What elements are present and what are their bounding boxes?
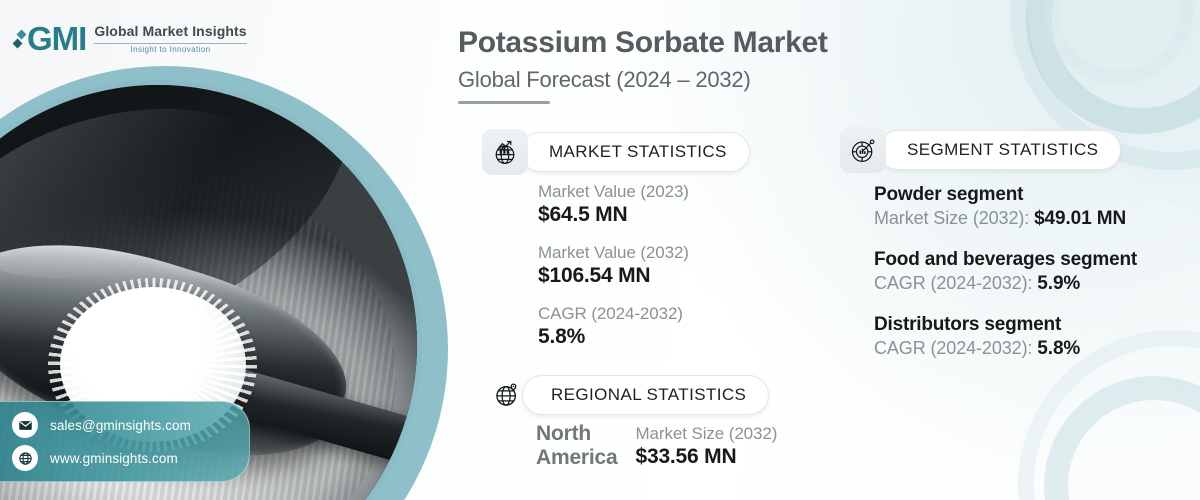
- contact-website-text: www.gminsights.com: [50, 451, 178, 466]
- title-underline: [458, 101, 550, 104]
- segment-heading: Powder segment: [874, 184, 1137, 206]
- logo-tagline: Insight to Innovation: [94, 45, 246, 54]
- segment-metric-label: CAGR (2024-2032):: [874, 338, 1032, 358]
- segment-item: Food and beverages segment CAGR (2024-20…: [874, 249, 1137, 295]
- region-meta: Market Size (2032) $33.56 MN: [635, 422, 777, 469]
- segment-metric-value: 5.9%: [1037, 273, 1080, 294]
- logo-divider: [94, 43, 246, 44]
- stat-label: Market Value (2032): [538, 243, 689, 263]
- regional-statistics-label: REGIONAL STATISTICS: [522, 375, 769, 415]
- globe-icon: [12, 445, 38, 471]
- region-name-line1: North: [536, 422, 617, 446]
- market-statistics-badge: MARKET STATISTICS: [482, 129, 750, 175]
- segment-metric-value: 5.8%: [1037, 338, 1080, 359]
- page-subtitle: Global Forecast (2024 – 2032): [458, 67, 828, 93]
- regional-statistics-row: North America Market Size (2032) $33.56 …: [536, 422, 777, 469]
- stat-item: Market Value (2023) $64.5 MN: [538, 182, 689, 227]
- segment-item: Distributors segment CAGR (2024-2032): 5…: [874, 314, 1137, 360]
- envelope-icon: [12, 412, 38, 438]
- stat-value: $106.54 MN: [538, 264, 689, 288]
- brand-logo[interactable]: GMI Global Market Insights Insight to In…: [14, 22, 247, 55]
- segment-statistics-list: Powder segment Market Size (2032): $49.0…: [874, 184, 1137, 360]
- market-statistics-label: MARKET STATISTICS: [520, 132, 750, 172]
- logo-wordmark: Global Market Insights Insight to Innova…: [94, 23, 246, 54]
- page-title: Potassium Sorbate Market: [458, 26, 828, 61]
- segment-metric-value: $49.01 MN: [1034, 208, 1126, 229]
- logo-mark: GMI: [14, 22, 86, 55]
- segment-metric-label: Market Size (2032):: [874, 208, 1029, 228]
- segment-heading: Food and beverages segment: [874, 249, 1137, 271]
- stat-value: 5.8%: [538, 325, 689, 349]
- contact-email-row[interactable]: sales@gminsights.com: [0, 412, 235, 438]
- regional-statistics-badge: REGIONAL STATISTICS: [484, 372, 769, 418]
- stat-label: Market Value (2023): [538, 182, 689, 202]
- segment-heading: Distributors segment: [874, 314, 1137, 336]
- logo-initials: GMI: [27, 22, 86, 55]
- region-metric-value: $33.56 MN: [635, 445, 777, 469]
- region-name: North America: [536, 422, 617, 469]
- globe-pin-icon: [484, 372, 530, 418]
- stat-item: Market Value (2032) $106.54 MN: [538, 243, 689, 288]
- globe-bar-chart-icon: [482, 129, 528, 175]
- stat-item: CAGR (2024-2032) 5.8%: [538, 304, 689, 349]
- contact-badge: sales@gminsights.com www.gminsights.com: [0, 401, 250, 482]
- infographic-canvas: sales@gminsights.com www.gminsights.com …: [0, 0, 1200, 500]
- region-metric-label: Market Size (2032): [635, 424, 777, 444]
- segment-statistics-label: SEGMENT STATISTICS: [878, 130, 1121, 170]
- segment-metric-label: CAGR (2024-2032):: [874, 273, 1032, 293]
- logo-diamond-icon: [14, 31, 25, 47]
- segment-item: Powder segment Market Size (2032): $49.0…: [874, 184, 1137, 230]
- title-block: Potassium Sorbate Market Global Forecast…: [458, 26, 828, 104]
- contact-email-text: sales@gminsights.com: [50, 418, 191, 433]
- segment-statistics-badge: SEGMENT STATISTICS: [840, 127, 1121, 173]
- segment-metric-line: CAGR (2024-2032): 5.9%: [874, 273, 1137, 295]
- segment-metric-line: CAGR (2024-2032): 5.8%: [874, 338, 1137, 360]
- market-statistics-list: Market Value (2023) $64.5 MN Market Valu…: [538, 182, 689, 349]
- region-name-line2: America: [536, 446, 617, 470]
- stat-label: CAGR (2024-2032): [538, 304, 689, 324]
- segment-metric-line: Market Size (2032): $49.01 MN: [874, 208, 1137, 230]
- pie-chart-target-icon: [840, 127, 886, 173]
- stat-value: $64.5 MN: [538, 203, 689, 227]
- logo-company-name: Global Market Insights: [94, 23, 246, 41]
- contact-website-row[interactable]: www.gminsights.com: [0, 445, 235, 471]
